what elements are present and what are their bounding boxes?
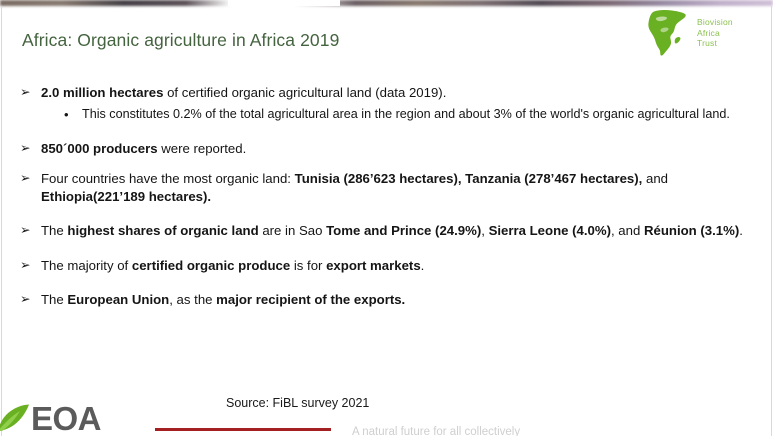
bullet-emphasis: 2.0 million hectares <box>41 85 163 100</box>
bullet-plain: The <box>41 292 67 307</box>
bullet-item: ➢Four countries have the most organic la… <box>20 170 753 205</box>
bullet-text: The highest shares of organic land are i… <box>41 222 753 240</box>
bullet-emphasis: export markets <box>326 258 421 273</box>
page-title: Africa: Organic agriculture in Africa 20… <box>22 30 339 51</box>
logo-line-2: Africa <box>697 28 733 39</box>
bullet-item: ➢850´000 producers were reported. <box>20 140 753 158</box>
bullet-emphasis: Sierra Leone (4.0%) <box>489 223 611 238</box>
bullet-arrow-icon: ➢ <box>20 139 30 157</box>
bullet-text: The European Union, as the major recipie… <box>41 291 753 309</box>
bullet-plain: of certified organic agricultural land (… <box>163 85 446 100</box>
bullet-plain: , <box>481 223 488 238</box>
bullet-emphasis: certified organic produce <box>132 258 290 273</box>
slide-right-border <box>771 6 772 436</box>
bullet-item: ➢The highest shares of organic land are … <box>20 222 753 240</box>
bullet-item: ➢2.0 million hectares of certified organ… <box>20 84 753 123</box>
bullet-emphasis: European Union <box>67 292 169 307</box>
bullet-text: The majority of certified organic produc… <box>41 257 753 275</box>
bullet-text: 2.0 million hectares of certified organi… <box>41 84 753 102</box>
bullet-emphasis: 850´000 producers <box>41 141 158 156</box>
bullet-arrow-icon: ➢ <box>20 221 30 239</box>
bullet-plain: Four countries have the most organic lan… <box>41 171 295 186</box>
logo-line-1: Biovision <box>697 17 733 28</box>
logo-wordmark: Biovision Africa Trust <box>697 17 733 49</box>
biovision-africa-trust-logo: Biovision Africa Trust <box>647 8 755 58</box>
bullet-emphasis: major recipient of the exports. <box>216 292 405 307</box>
bullet-plain: , and <box>611 223 644 238</box>
sub-bullet-text: This constitutes 0.2% of the total agric… <box>82 107 730 121</box>
eoa-wordmark: EOA <box>31 402 101 435</box>
bullet-plain: The <box>41 223 67 238</box>
screen-share-top-strip <box>0 0 773 6</box>
bullet-text: Four countries have the most organic lan… <box>41 170 753 205</box>
bullet-plain: and <box>642 171 668 186</box>
footer-tagline: A natural future for all collectively <box>352 426 520 436</box>
bullet-emphasis: Tome and Prince (24.9%) <box>326 223 481 238</box>
bullet-arrow-icon: ➢ <box>20 290 30 308</box>
footer-red-rule <box>155 428 331 431</box>
slide-canvas: Africa: Organic agriculture in Africa 20… <box>0 0 773 436</box>
bullet-arrow-icon: ➢ <box>20 169 30 187</box>
bullet-dot-icon: • <box>64 106 69 123</box>
bullet-plain: , as the <box>169 292 216 307</box>
bullet-emphasis: Ethiopia(221’189 hectares). <box>41 189 211 204</box>
bullet-arrow-icon: ➢ <box>20 256 30 274</box>
bullet-plain: . <box>421 258 425 273</box>
bullet-item: ➢The majority of certified organic produ… <box>20 257 753 275</box>
bullet-plain: is for <box>290 258 326 273</box>
sub-bullet-list: •This constitutes 0.2% of the total agri… <box>41 106 753 123</box>
logo-line-3: Trust <box>697 38 733 49</box>
bullet-emphasis: highest shares of organic land <box>67 223 258 238</box>
slide-left-border <box>1 6 2 436</box>
bullet-arrow-icon: ➢ <box>20 83 30 101</box>
bullet-emphasis: Réunion (3.1%) <box>644 223 739 238</box>
africa-map-icon <box>647 9 693 57</box>
sub-bullet-item: •This constitutes 0.2% of the total agri… <box>64 106 753 123</box>
bullet-plain: The majority of <box>41 258 132 273</box>
bullet-item: ➢The European Union, as the major recipi… <box>20 291 753 309</box>
bullet-text: 850´000 producers were reported. <box>41 140 753 158</box>
eoa-logo: EOA <box>2 400 122 436</box>
bullet-plain: . <box>739 223 743 238</box>
slide-body: ➢2.0 million hectares of certified organ… <box>20 84 753 322</box>
bullet-plain: were reported. <box>158 141 247 156</box>
bullet-emphasis: Tunisia (286’623 hectares), Tanzania (27… <box>295 171 643 186</box>
screen-share-top-strip-gap <box>228 0 340 6</box>
bullet-plain: are in Sao <box>259 223 326 238</box>
leaf-icon <box>0 401 30 435</box>
source-citation: Source: FiBL survey 2021 <box>226 396 369 410</box>
